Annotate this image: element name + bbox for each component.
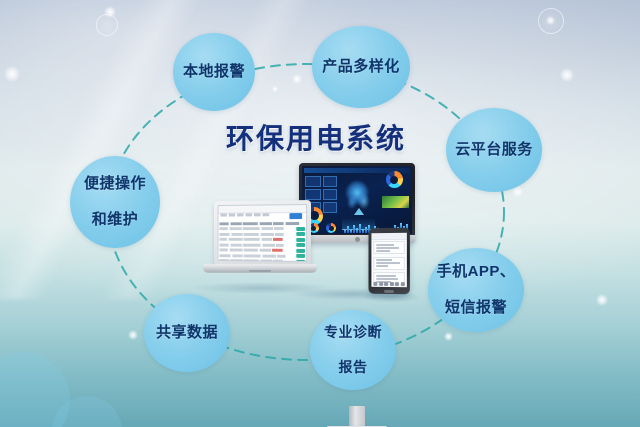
map-marker-icon bbox=[354, 208, 364, 215]
table-row[interactable] bbox=[219, 243, 305, 247]
node-shared-data[interactable]: 共享数据 bbox=[144, 294, 230, 372]
node-local-alarm[interactable]: 本地报警 bbox=[173, 33, 255, 111]
table-row[interactable] bbox=[219, 253, 305, 258]
table-row[interactable] bbox=[219, 248, 305, 252]
phone-alarm-list bbox=[373, 241, 405, 279]
table-row[interactable] bbox=[219, 227, 305, 231]
dashboard-left-cards-2 bbox=[323, 176, 337, 213]
brand-logo-icon bbox=[355, 237, 360, 242]
dashboard-gauge bbox=[326, 223, 336, 233]
node-label: 共享数据 bbox=[152, 324, 222, 342]
laptop-lid bbox=[214, 200, 311, 266]
node-easy-operation[interactable]: 便捷操作和维护 bbox=[70, 156, 160, 248]
node-cloud-platform[interactable]: 云平台服务 bbox=[446, 108, 542, 192]
node-label: 本地报警 bbox=[179, 63, 249, 81]
console-toolbar bbox=[220, 213, 269, 216]
list-item[interactable] bbox=[373, 256, 405, 269]
node-label: 云平台服务 bbox=[451, 141, 537, 159]
table-row[interactable] bbox=[219, 237, 305, 241]
poster-canvas: 环保用电系统 bbox=[0, 0, 640, 427]
list-item[interactable] bbox=[373, 241, 405, 254]
node-label: 产品多样化 bbox=[318, 58, 404, 76]
phone-tabbar[interactable] bbox=[373, 282, 405, 286]
page-title: 环保用电系统 bbox=[226, 117, 406, 157]
node-diagnosis-report[interactable]: 专业诊断报告 bbox=[310, 310, 396, 390]
phone-screen bbox=[371, 233, 406, 287]
table-row[interactable] bbox=[219, 259, 305, 262]
node-label: 手机APP、短信报警 bbox=[429, 263, 524, 318]
dashboard-donut-chart bbox=[386, 171, 403, 188]
table-row[interactable] bbox=[219, 232, 305, 236]
laptop-hinge-notch bbox=[249, 270, 271, 272]
phone-app-titlebar bbox=[371, 233, 406, 240]
phone-home-button[interactable] bbox=[384, 289, 394, 292]
monitor-stand-neck bbox=[349, 406, 365, 427]
node-label: 专业诊断报告 bbox=[316, 324, 390, 375]
smartphone bbox=[369, 228, 410, 295]
laptop-shadow bbox=[192, 282, 332, 294]
node-product-diversity[interactable]: 产品多样化 bbox=[312, 26, 410, 108]
console-primary-button[interactable] bbox=[289, 213, 302, 219]
console-data-table bbox=[219, 222, 305, 258]
node-label: 便捷操作和维护 bbox=[76, 175, 154, 230]
laptop-screen bbox=[218, 204, 307, 262]
node-app-sms-alarm[interactable]: 手机APP、短信报警 bbox=[428, 248, 524, 332]
monitor-screen bbox=[302, 166, 412, 234]
laptop bbox=[203, 200, 317, 280]
dashboard-video-thumbnail bbox=[382, 196, 408, 208]
table-header-row bbox=[219, 222, 305, 225]
